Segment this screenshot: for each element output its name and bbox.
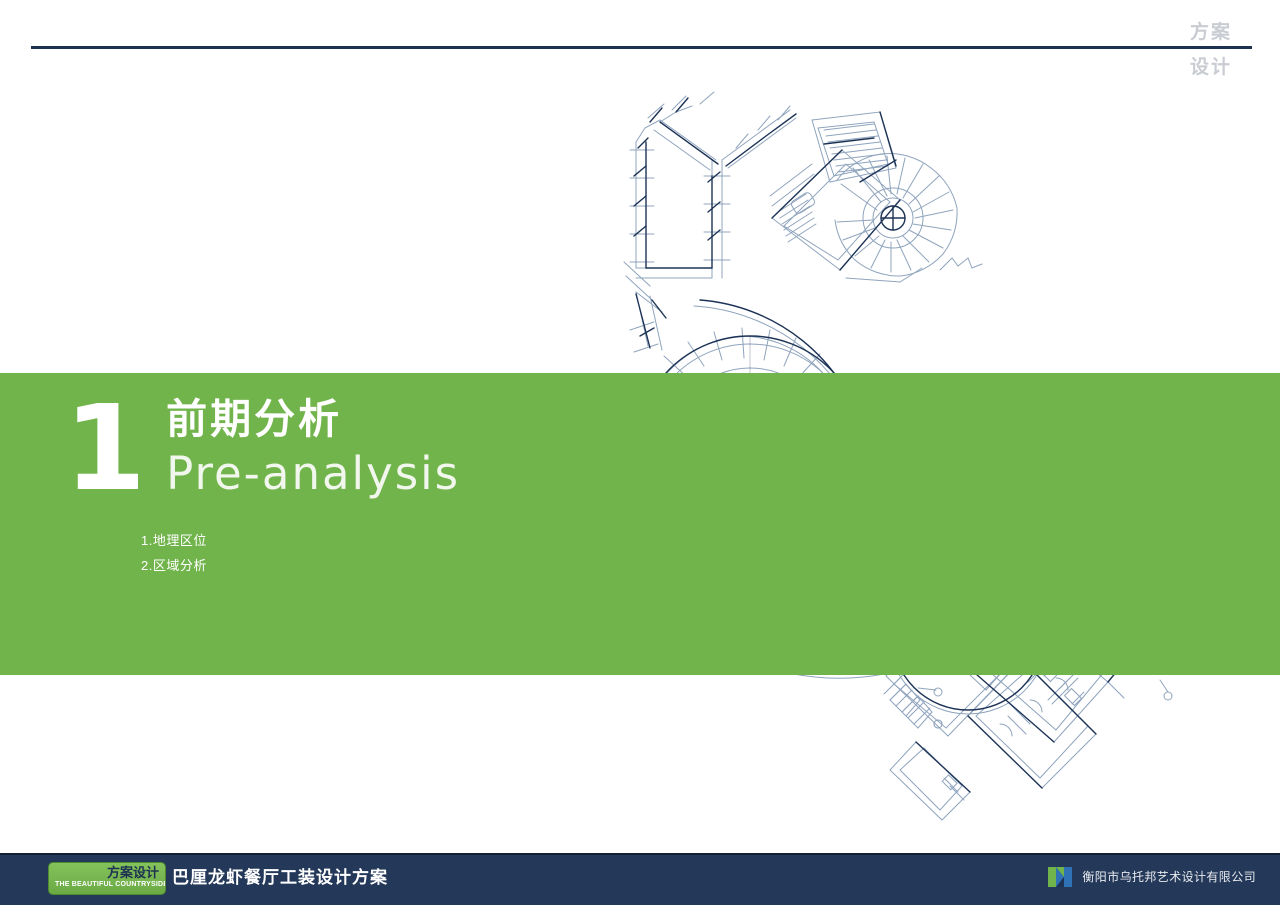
section-title-row: 1 前期分析 Pre-analysis (64, 390, 584, 502)
section-subitem-2[interactable]: 2.区域分析 (141, 553, 584, 578)
section-number: 1 (64, 396, 144, 500)
header-corner-mark: 方案 设计 (1176, 18, 1246, 82)
presentation-slide: 方案 设计 1 前期分析 Pre-analysis 1.地理区位 2.区域分析 … (0, 0, 1280, 905)
section-title-block: 1 前期分析 Pre-analysis 1.地理区位 2.区域分析 (64, 390, 584, 578)
footer-project-title: 巴厘龙虾餐厅工装设计方案 (172, 866, 388, 890)
section-title-en: Pre-analysis (166, 446, 460, 502)
header-mark-top: 方案 (1176, 18, 1246, 47)
footer-brand-badge: 方案设计 THE BEAUTIFUL COUNTRYSIDE (48, 862, 166, 895)
section-title-texts: 前期分析 Pre-analysis (166, 390, 460, 502)
footer-badge-cn: 方案设计 (55, 865, 159, 880)
footer-company-block: 衡阳市乌托邦艺术设计有限公司 (1047, 866, 1256, 888)
footer-badge-en: THE BEAUTIFUL COUNTRYSIDE (55, 880, 159, 889)
m-logo-icon (1047, 866, 1073, 888)
header-mark-bottom: 设计 (1176, 53, 1246, 82)
section-subitem-list: 1.地理区位 2.区域分析 (141, 528, 584, 578)
section-title-cn: 前期分析 (166, 394, 460, 444)
footer-company-name: 衡阳市乌托邦艺术设计有限公司 (1082, 866, 1256, 888)
header-divider-rule (31, 46, 1252, 49)
section-subitem-1[interactable]: 1.地理区位 (141, 528, 584, 553)
